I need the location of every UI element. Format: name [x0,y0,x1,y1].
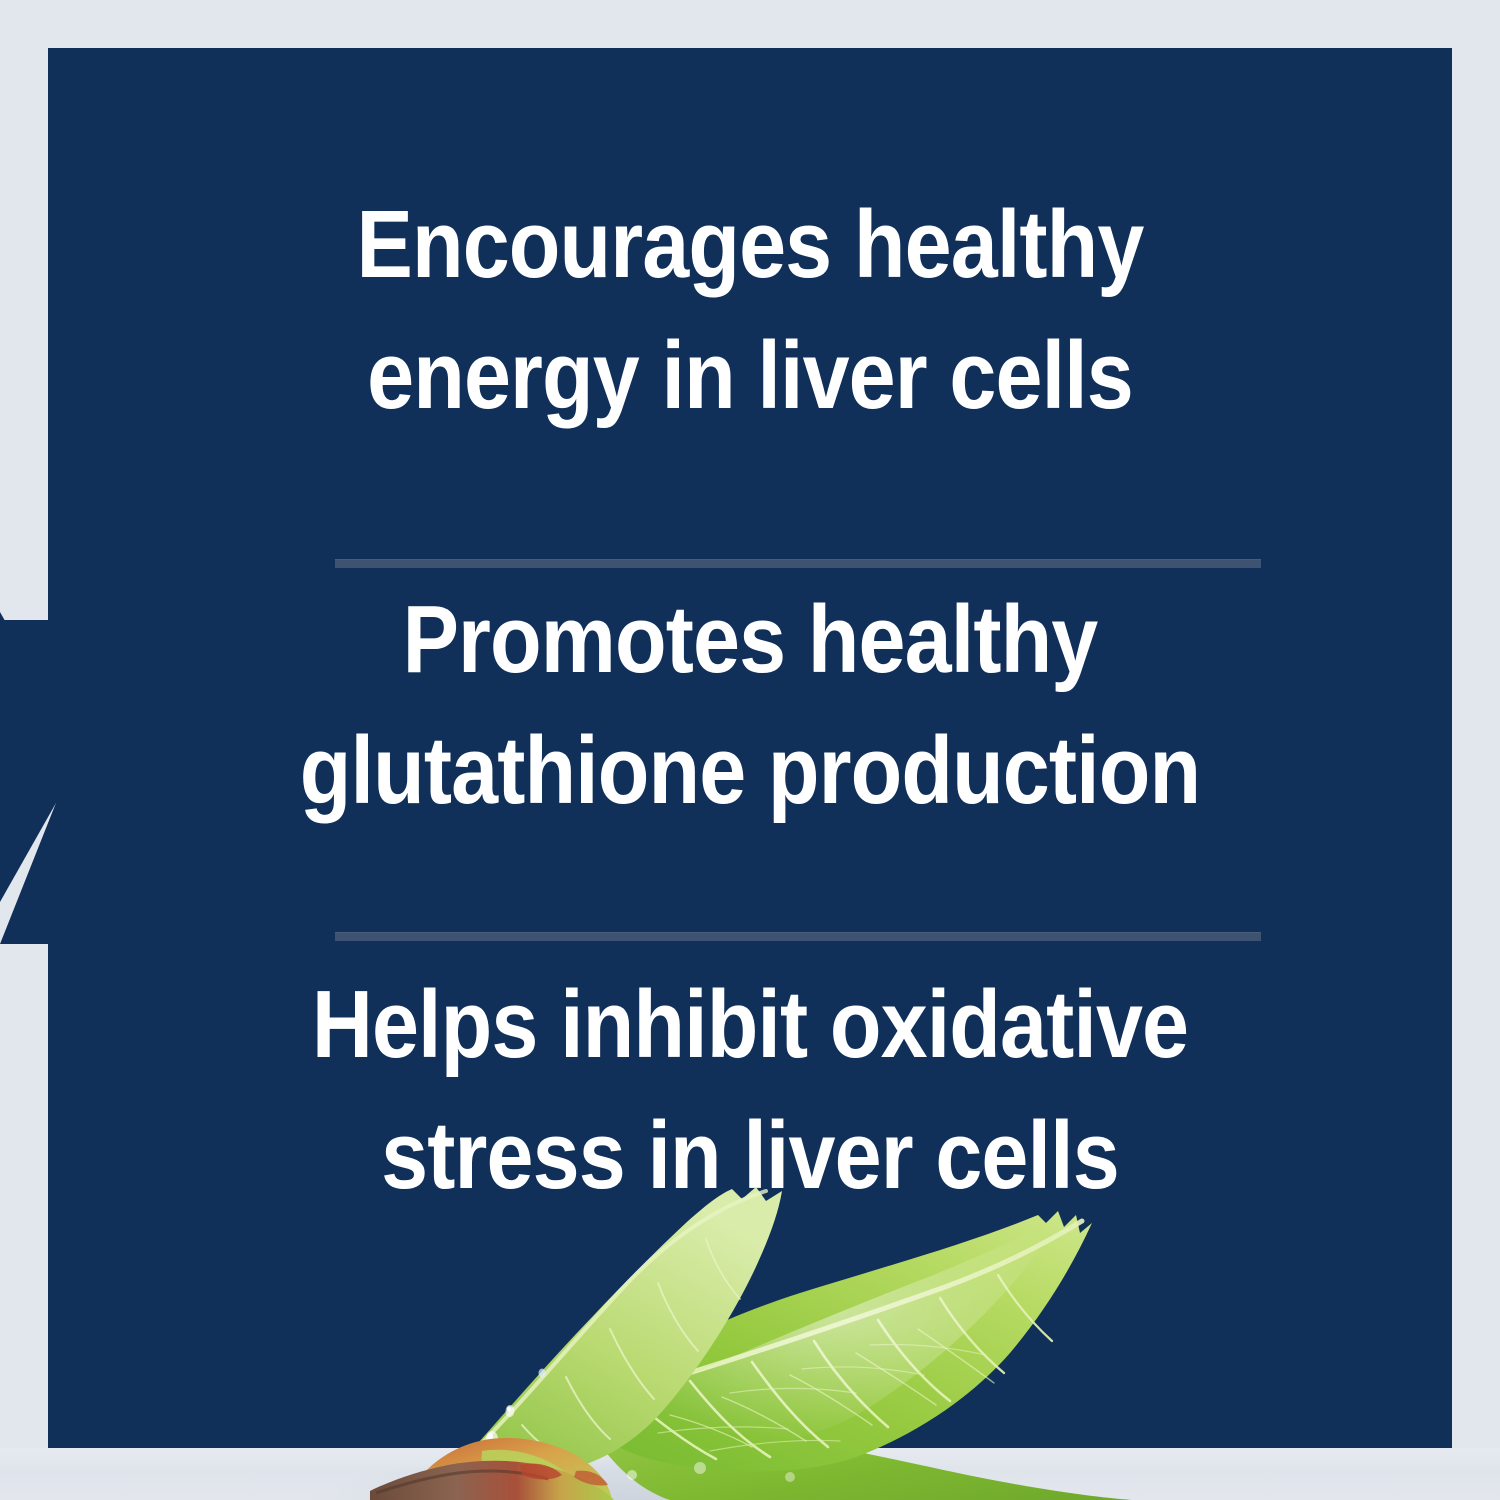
benefit-item-oxidative-stress: Helps inhibit oxidative stress in liver … [132,960,1368,1221]
benefit-item-energy: Encourages healthy energy in liver cells [132,180,1368,441]
benefit-item-glutathione: Promotes healthy glutathione production [132,575,1368,836]
divider-1 [335,559,1261,568]
bottom-light-band [0,1448,1500,1500]
benefit-list: Encourages healthy energy in liver cells… [48,48,1452,1448]
promo-graphic: Encourages healthy energy in liver cells… [0,0,1500,1500]
divider-2 [335,932,1261,941]
